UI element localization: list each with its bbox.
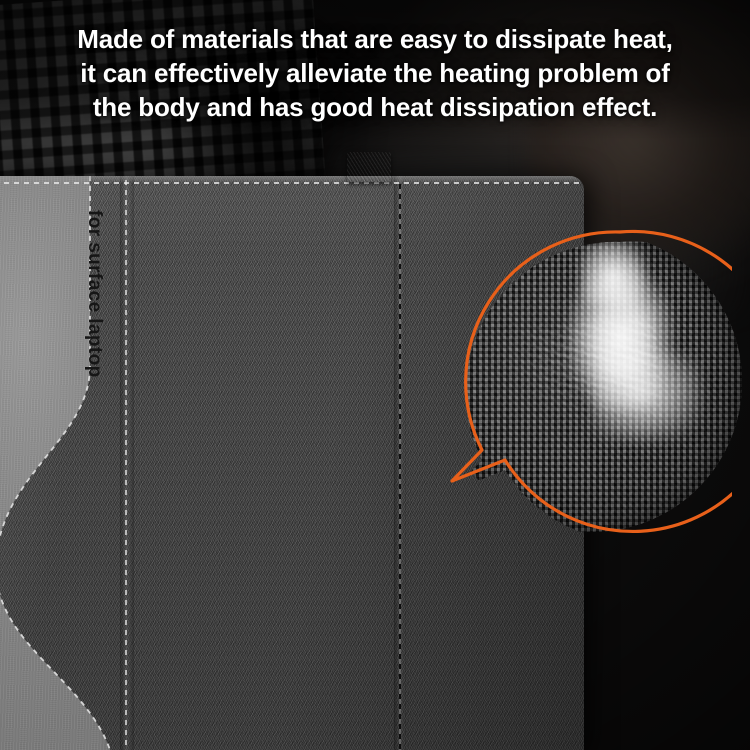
case-fold-spine	[120, 176, 134, 750]
brand-vertical-text: for surface laptop	[83, 210, 105, 420]
product-feature-banner: for surface laptop Made of materials tha…	[0, 0, 750, 750]
magnifier-callout	[412, 222, 732, 542]
headline-text: Made of materials that are easy to dissi…	[0, 22, 750, 124]
closure-strap-tab	[347, 152, 391, 182]
case-spine-stitching	[125, 180, 127, 750]
case-pocket-stitching	[399, 184, 401, 750]
case-top-stitching	[0, 182, 584, 184]
magnifier-border-shape	[412, 222, 732, 542]
